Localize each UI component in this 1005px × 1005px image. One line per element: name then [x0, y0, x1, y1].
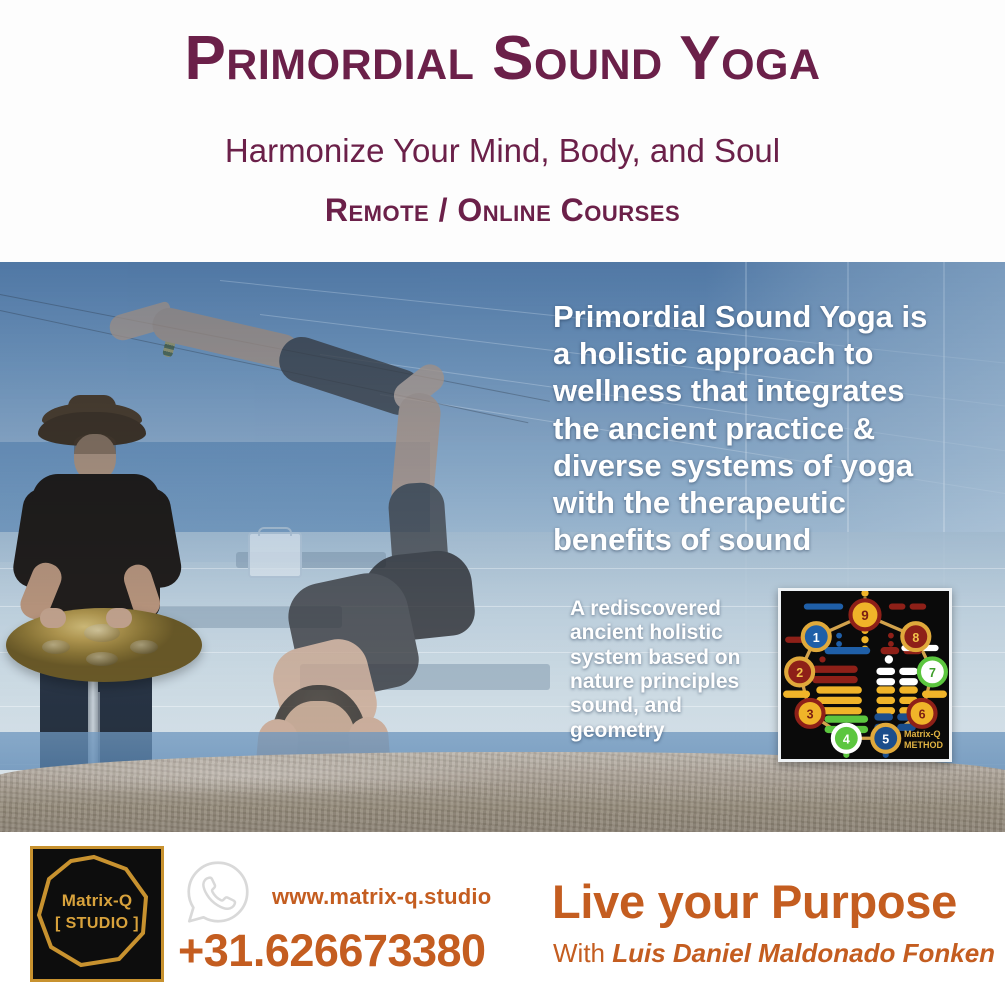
page-subtitle: Harmonize Your Mind, Body, and Soul	[0, 132, 1005, 170]
svg-text:7: 7	[929, 666, 936, 680]
svg-text:5: 5	[882, 732, 889, 746]
svg-text:1: 1	[813, 631, 820, 645]
hero-subcopy: A rediscovered ancient holistic system b…	[570, 597, 770, 743]
svg-text:9: 9	[861, 608, 869, 623]
poster-root: Primordial Sound Yoga Harmonize Your Min…	[0, 0, 1005, 1005]
node-6: 6	[909, 700, 936, 727]
whatsapp-icon[interactable]	[182, 856, 254, 928]
node-5: 5	[872, 725, 899, 752]
svg-text:3: 3	[807, 708, 814, 722]
presenter-line: With Luis Daniel Maldonado Fonken	[553, 938, 995, 969]
svg-text:2: 2	[796, 666, 803, 680]
courses-tagline: Remote / Online Courses	[0, 192, 1005, 229]
hero-photo: Primordial Sound Yoga is a holistic appr…	[0, 262, 1005, 832]
matrix-q-diagram-label: Matrix-Q METHOD	[904, 729, 943, 752]
presenter-name: Luis Daniel Maldonado Fonken	[612, 938, 995, 968]
svg-text:6: 6	[919, 708, 926, 722]
node-4: 4	[833, 725, 860, 752]
svg-text:8: 8	[912, 631, 919, 645]
diagram-label-line1: Matrix-Q	[904, 729, 943, 740]
node-7: 7	[919, 658, 946, 685]
matrix-q-method-diagram: 9 1 8 2 7 3 6 4 5 Matrix-Q METHOD	[778, 588, 952, 762]
logo-brand-name: Matrix-Q	[33, 891, 161, 911]
slogan-text: Live your Purpose	[552, 874, 957, 929]
page-title: Primordial Sound Yoga	[0, 26, 1005, 91]
nonagon-logo-shape	[33, 849, 155, 973]
with-prefix: With	[553, 938, 612, 968]
website-url[interactable]: www.matrix-q.studio	[272, 884, 532, 910]
svg-text:4: 4	[843, 732, 850, 746]
node-8: 8	[902, 623, 929, 650]
header-section: Primordial Sound Yoga Harmonize Your Min…	[0, 0, 1005, 262]
hero-headline: Primordial Sound Yoga is a holistic appr…	[553, 298, 953, 558]
logo-studio-label: [ STUDIO ]	[33, 915, 161, 933]
node-1: 1	[803, 623, 830, 650]
node-2: 2	[786, 658, 813, 685]
rock-ledge	[0, 752, 1005, 832]
node-3: 3	[797, 700, 824, 727]
node-9: 9	[850, 600, 879, 629]
diagram-label-line2: METHOD	[904, 740, 943, 751]
phone-number[interactable]: +31.626673380	[178, 925, 486, 977]
matrix-q-studio-logo[interactable]: Matrix-Q [ STUDIO ]	[30, 846, 164, 982]
